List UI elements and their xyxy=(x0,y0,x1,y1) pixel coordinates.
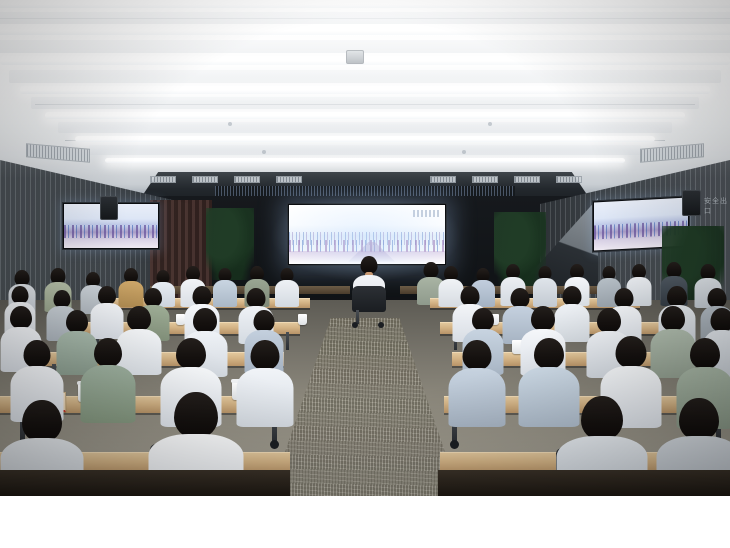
head xyxy=(254,310,275,332)
ceiling-sensor-dot xyxy=(228,122,232,126)
ceiling-light-strip xyxy=(75,136,655,142)
head xyxy=(690,338,720,369)
torso xyxy=(237,368,294,427)
wall-speaker xyxy=(682,190,701,216)
wall-speaker xyxy=(100,196,118,220)
desk-shadow xyxy=(0,470,290,496)
head xyxy=(581,396,623,440)
ceiling-light-strip xyxy=(0,26,730,35)
head xyxy=(472,308,494,331)
head xyxy=(511,288,530,308)
desk-castor xyxy=(270,440,279,449)
head xyxy=(24,340,51,368)
soffit-vent xyxy=(276,176,302,183)
ceiling-light-strip xyxy=(20,86,710,94)
ceiling-speaker xyxy=(346,50,364,64)
ceiling-sensor-dot xyxy=(462,150,466,154)
display-logo-icon xyxy=(413,210,439,217)
desk-castor xyxy=(450,440,459,449)
chair-castor xyxy=(378,322,384,328)
head xyxy=(10,306,32,329)
head xyxy=(531,306,555,331)
head xyxy=(247,288,266,308)
head xyxy=(667,286,687,307)
head xyxy=(461,286,480,306)
head xyxy=(251,340,280,370)
head xyxy=(424,262,439,278)
attendee xyxy=(80,338,136,420)
head xyxy=(708,288,727,308)
ceiling-light-strip xyxy=(0,0,730,8)
head xyxy=(193,286,212,306)
soffit-vent xyxy=(234,176,260,183)
soffit-vent xyxy=(192,176,218,183)
attendee xyxy=(236,340,294,424)
head xyxy=(463,340,492,370)
ceiling-panel xyxy=(58,122,672,133)
soffit-vent xyxy=(150,176,176,183)
torso xyxy=(449,368,506,427)
head xyxy=(94,338,122,367)
head xyxy=(66,310,88,333)
bottom-margin xyxy=(0,496,730,548)
desk-shadow xyxy=(438,470,730,496)
exit-sign-text: 安全出口 xyxy=(704,196,730,216)
screenshot-root: 安全出口 xyxy=(0,0,730,548)
ceiling-panel xyxy=(89,145,641,155)
head xyxy=(534,338,564,369)
ceiling-panel xyxy=(0,40,730,53)
head xyxy=(679,398,719,440)
chair xyxy=(352,286,386,312)
attendee xyxy=(448,340,506,424)
soffit-vent xyxy=(556,176,582,183)
ceiling-sensor-dot xyxy=(488,122,492,126)
cityscape-band xyxy=(64,225,158,238)
head xyxy=(193,308,217,333)
soffit-vent xyxy=(472,176,498,183)
torso xyxy=(275,280,299,307)
head xyxy=(22,400,62,442)
head xyxy=(661,306,685,331)
head xyxy=(174,392,218,438)
ceiling-panel xyxy=(31,97,699,109)
ceiling-sensor-dot xyxy=(262,150,266,154)
ceiling-light-strip xyxy=(0,56,730,65)
paper-cup xyxy=(298,314,307,325)
ceiling-light-strip xyxy=(105,158,625,163)
head xyxy=(615,288,634,308)
conference-room-photo: 安全出口 xyxy=(0,0,730,496)
chair-castor xyxy=(352,322,358,328)
torso xyxy=(81,365,136,423)
attendee xyxy=(274,268,299,306)
head xyxy=(176,338,206,369)
ceiling-panel xyxy=(0,12,730,24)
soffit-vent xyxy=(430,176,456,183)
ceiling-panel xyxy=(9,70,721,83)
head xyxy=(711,308,730,332)
soffit-vent xyxy=(514,176,540,183)
head xyxy=(563,286,582,306)
head xyxy=(616,336,647,368)
head xyxy=(127,306,151,331)
ceiling-light-strip xyxy=(45,112,685,119)
head xyxy=(597,308,621,333)
